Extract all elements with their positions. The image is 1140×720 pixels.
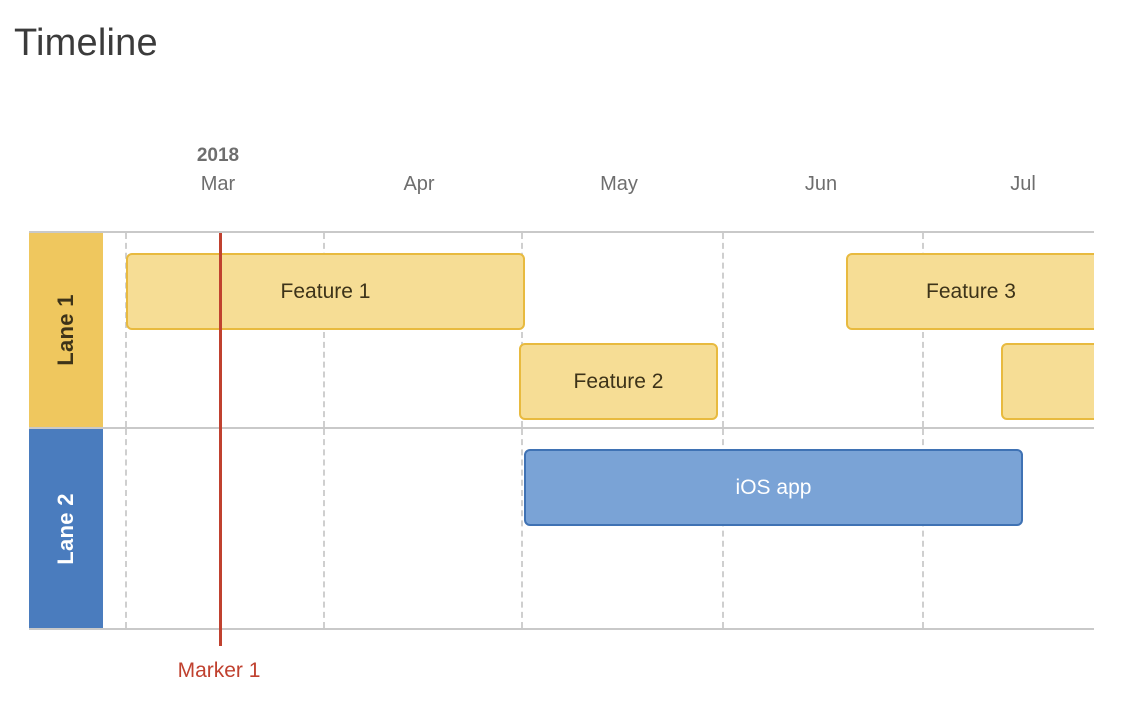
- marker-label[interactable]: Marker 1: [178, 659, 261, 683]
- marker-line: [219, 233, 222, 646]
- task-bar[interactable]: iOS app: [524, 449, 1023, 526]
- task-bar-label: Feature 3: [926, 280, 1016, 304]
- gridline: [125, 429, 127, 628]
- task-bar-label: iOS app: [736, 476, 812, 500]
- page-title: Timeline: [14, 20, 158, 66]
- lane-body-lane-1: Feature 1Feature 2Feature 3: [103, 233, 1094, 427]
- axis-month-label-jul: Jul: [1010, 173, 1036, 196]
- task-bar[interactable]: Feature 2: [519, 343, 718, 420]
- lane-header-lane-1[interactable]: Lane 1: [29, 233, 103, 427]
- lane-body-lane-2: iOS app: [103, 429, 1094, 628]
- gridline: [722, 233, 724, 427]
- gridline: [521, 429, 523, 628]
- lane-header-label: Lane 2: [53, 493, 79, 565]
- gridline: [323, 429, 325, 628]
- timeline-plot-area: Lane 1 Feature 1Feature 2Feature 3 Lane …: [29, 231, 1094, 630]
- task-bar[interactable]: Feature 1: [126, 253, 525, 330]
- lane-row: Lane 2 iOS app: [29, 429, 1094, 630]
- axis-year-label: 2018: [197, 145, 239, 167]
- lane-header-label: Lane 1: [53, 294, 79, 366]
- lane-header-lane-2[interactable]: Lane 2: [29, 429, 103, 628]
- axis-month-label-jun: Jun: [805, 173, 837, 196]
- task-bar[interactable]: Feature 3: [846, 253, 1094, 330]
- axis-month-label-apr: Apr: [403, 173, 434, 196]
- task-bar-label: Feature 1: [281, 280, 371, 304]
- axis-month-label-may: May: [600, 173, 638, 196]
- timeline-chart: Timeline 2018MarAprMayJunJul Lane 1 Feat…: [0, 0, 1140, 720]
- task-bar[interactable]: [1001, 343, 1094, 420]
- timeline-axis-header: 2018MarAprMayJunJul: [0, 140, 1140, 230]
- axis-month-label-mar: Mar: [201, 173, 235, 196]
- lane-row: Lane 1 Feature 1Feature 2Feature 3: [29, 231, 1094, 429]
- task-bar-label: Feature 2: [574, 370, 664, 394]
